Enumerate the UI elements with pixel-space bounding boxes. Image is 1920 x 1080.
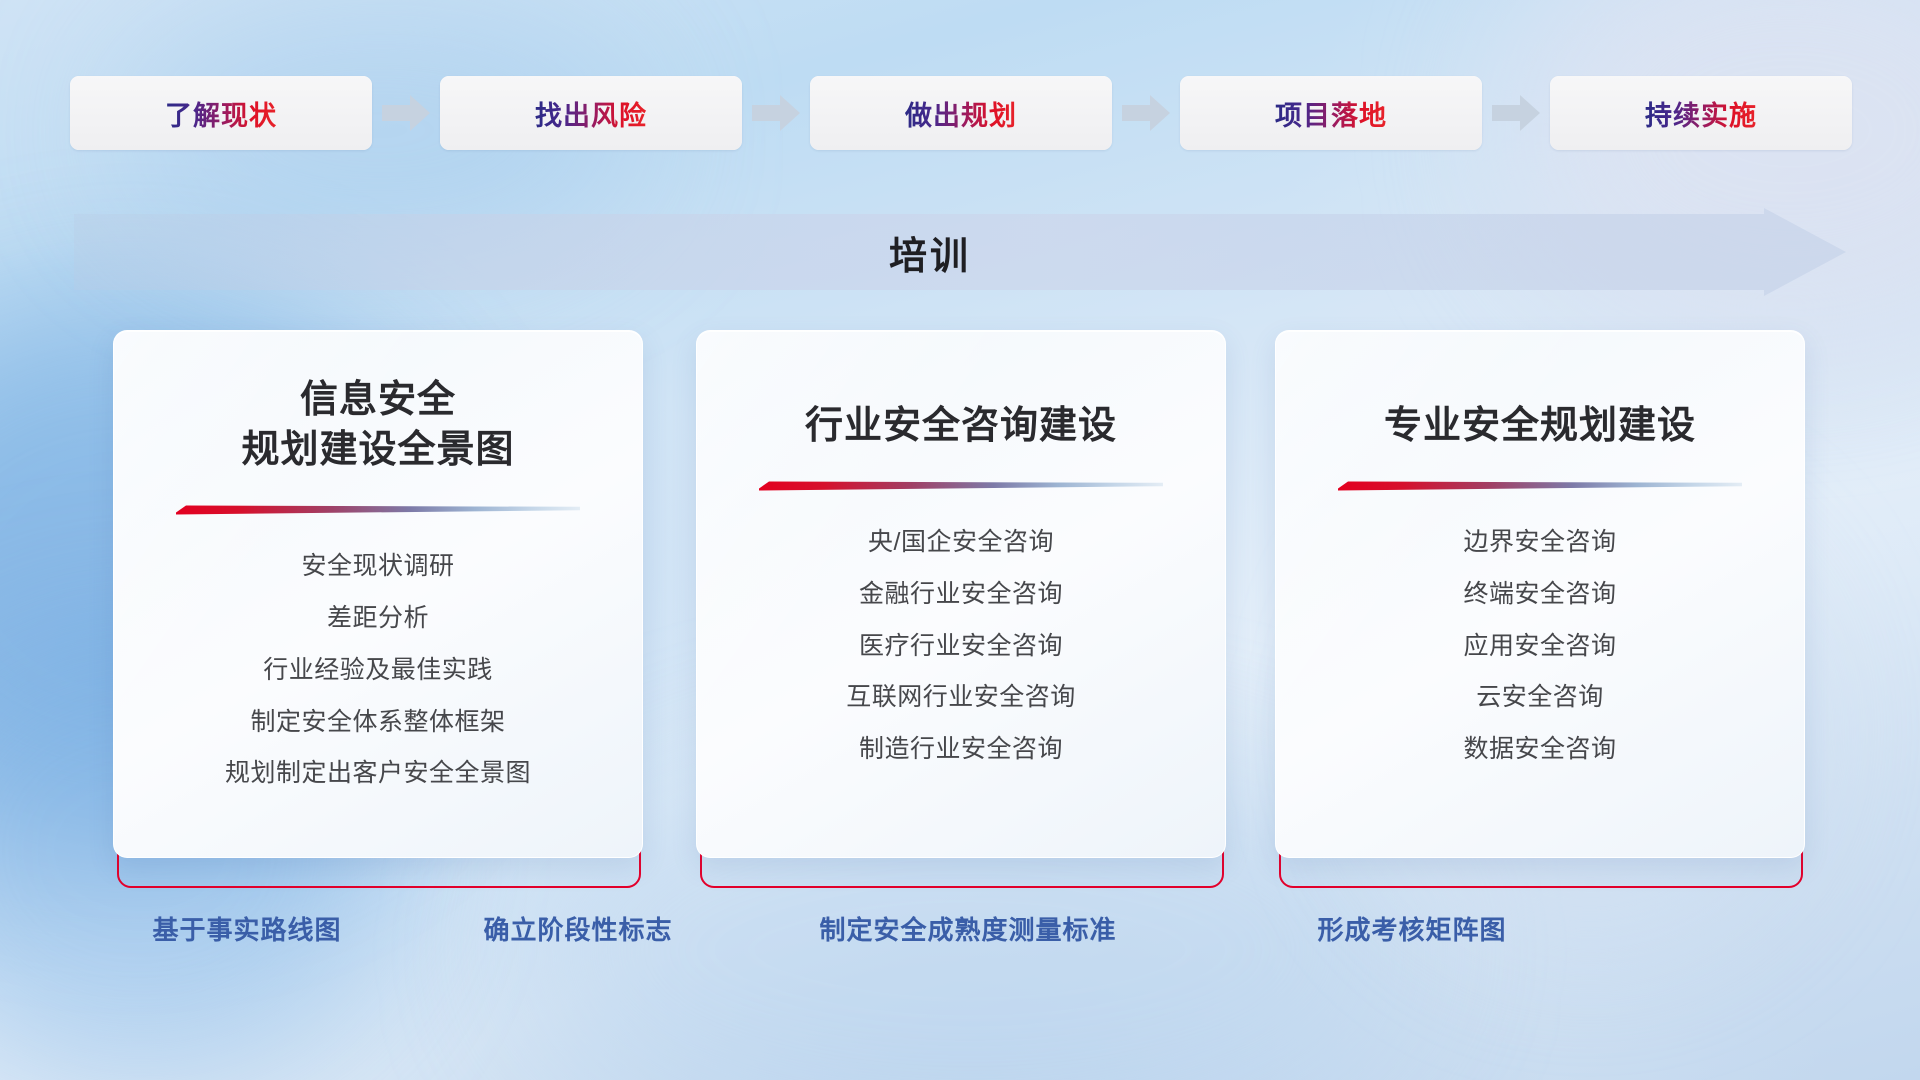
process-step-5[interactable]: 持续实施 xyxy=(1550,76,1852,150)
process-step-5-label: 持续实施 xyxy=(1645,94,1757,133)
step-connector-arrow-2-icon xyxy=(742,91,810,135)
list-item: 金融行业安全咨询 xyxy=(859,575,1063,614)
card-1-title-line-2: 规划建设全景图 xyxy=(158,425,598,475)
card-1-title-line-1: 信息安全 xyxy=(158,375,598,425)
process-step-3-face: 做出规划 xyxy=(810,76,1112,150)
card-1-divider xyxy=(176,503,580,517)
list-item: 央/国企安全咨询 xyxy=(868,523,1054,562)
caption-1: 基于事实路线图 xyxy=(152,910,341,947)
process-step-3-label: 做出规划 xyxy=(905,94,1017,133)
list-item: 行业经验及最佳实践 xyxy=(263,651,493,690)
list-item: 安全现状调研 xyxy=(301,547,454,586)
list-item: 制造行业安全咨询 xyxy=(859,730,1063,769)
card-1-panel: 信息安全 规划建设全景图 xyxy=(113,330,643,858)
card-2-title: 行业安全咨询建设 xyxy=(741,401,1181,451)
step-connector-arrow-4-icon xyxy=(1482,91,1550,135)
process-step-4-face: 项目落地 xyxy=(1180,76,1482,150)
list-item: 边界安全咨询 xyxy=(1463,523,1616,562)
training-band-label: 培训 xyxy=(74,208,1846,296)
slide-canvas: 了解现状 找出风险 做出规划 xyxy=(0,0,1920,1080)
card-3-item-list: 边界安全咨询 终端安全咨询 应用安全咨询 云安全咨询 数据安全咨询 xyxy=(1276,523,1804,769)
process-step-1-face: 了解现状 xyxy=(70,76,372,150)
card-3-divider xyxy=(1338,479,1742,493)
card-3-title: 专业安全规划建设 xyxy=(1320,401,1760,451)
card-row: 信息安全 规划建设全景图 xyxy=(0,330,1920,890)
process-step-2[interactable]: 找出风险 xyxy=(440,76,742,150)
card-3-title-line-1: 专业安全规划建设 xyxy=(1320,401,1760,451)
process-step-1[interactable]: 了解现状 xyxy=(70,76,372,150)
process-step-row: 了解现状 找出风险 做出规划 xyxy=(70,76,1856,150)
card-3[interactable]: 专业安全规划建设 xyxy=(1275,330,1805,880)
list-item: 制定安全体系整体框架 xyxy=(250,703,505,742)
list-item: 云安全咨询 xyxy=(1476,678,1604,717)
process-step-4[interactable]: 项目落地 xyxy=(1180,76,1482,150)
process-step-1-label: 了解现状 xyxy=(165,94,277,133)
list-item: 数据安全咨询 xyxy=(1463,730,1616,769)
card-2[interactable]: 行业安全咨询建设 xyxy=(696,330,1226,880)
training-arrow-band: 培训 xyxy=(74,208,1846,296)
list-item: 差距分析 xyxy=(327,599,429,638)
card-1-item-list: 安全现状调研 差距分析 行业经验及最佳实践 制定安全体系整体框架 规划制定出客户… xyxy=(114,547,642,793)
caption-row: 基于事实路线图 确立阶段性标志 制定安全成熟度测量标准 形成考核矩阵图 xyxy=(0,910,1920,960)
caption-2: 确立阶段性标志 xyxy=(483,910,672,947)
list-item: 应用安全咨询 xyxy=(1463,627,1616,666)
list-item: 规划制定出客户安全全景图 xyxy=(225,754,531,793)
process-step-5-face: 持续实施 xyxy=(1550,76,1852,150)
step-connector-arrow-3-icon xyxy=(1112,91,1180,135)
card-3-panel: 专业安全规划建设 xyxy=(1275,330,1805,858)
card-2-title-line-1: 行业安全咨询建设 xyxy=(741,401,1181,451)
list-item: 医疗行业安全咨询 xyxy=(859,627,1063,666)
process-step-2-face: 找出风险 xyxy=(440,76,742,150)
list-item: 终端安全咨询 xyxy=(1463,575,1616,614)
process-step-3[interactable]: 做出规划 xyxy=(810,76,1112,150)
card-1-title: 信息安全 规划建设全景图 xyxy=(158,375,598,475)
process-step-4-label: 项目落地 xyxy=(1275,94,1387,133)
process-step-2-label: 找出风险 xyxy=(535,94,647,133)
caption-3: 制定安全成熟度测量标准 xyxy=(819,910,1116,947)
list-item: 互联网行业安全咨询 xyxy=(846,678,1076,717)
card-2-panel: 行业安全咨询建设 xyxy=(696,330,1226,858)
card-2-divider xyxy=(759,479,1163,493)
caption-4: 形成考核矩阵图 xyxy=(1317,910,1506,947)
card-2-item-list: 央/国企安全咨询 金融行业安全咨询 医疗行业安全咨询 互联网行业安全咨询 制造行… xyxy=(697,523,1225,769)
step-connector-arrow-1-icon xyxy=(372,91,440,135)
card-1[interactable]: 信息安全 规划建设全景图 xyxy=(113,330,643,880)
